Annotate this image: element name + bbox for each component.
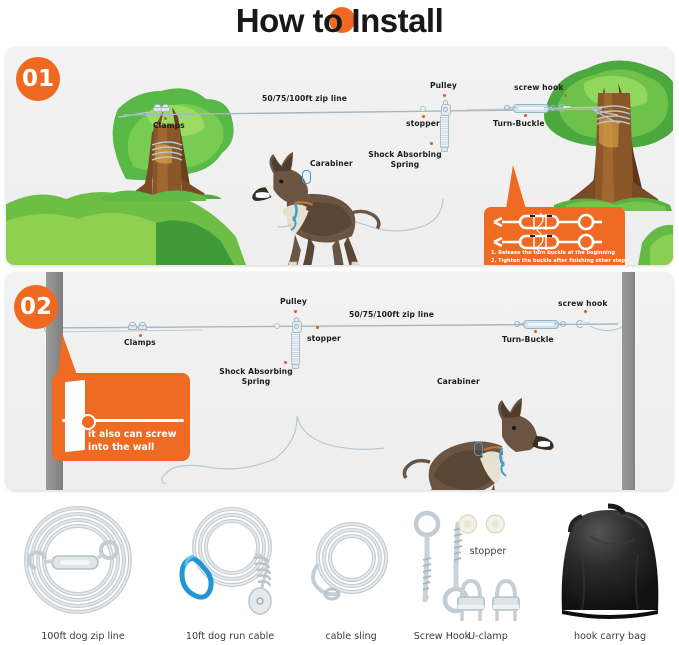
u-clamp-image xyxy=(445,575,531,625)
u-clamp-1 xyxy=(458,581,484,621)
shock-spring-cap-p1 xyxy=(441,147,448,152)
product-zip-line: 100ft dog zip line xyxy=(8,502,158,642)
page-header: How to Install xyxy=(0,0,679,42)
cable-sling-image xyxy=(296,502,406,624)
screwhook-icon-p2 xyxy=(576,319,589,327)
clamp-icon-panel2-b xyxy=(138,322,145,331)
wall-post-right-p2 xyxy=(622,272,635,490)
product-carry-bag: hook carry bag xyxy=(546,502,674,642)
screw-hook-1 xyxy=(416,513,438,602)
clamp-icon-panel1-b xyxy=(161,104,168,113)
callout-tail-p2 xyxy=(58,333,77,375)
callout-wall-text-l2: into the wall xyxy=(88,442,154,453)
title-text-accent: I xyxy=(351,2,360,39)
product-stopper-label: stopper xyxy=(445,546,531,557)
infographic-root: How to Install xyxy=(0,0,679,645)
title-text-rest: nstall xyxy=(360,2,443,39)
label-stopper-p2: stopper xyxy=(307,334,341,343)
shock-spring-p1 xyxy=(440,115,449,148)
step-badge-01: 01 xyxy=(16,57,60,101)
callout-wall-text-l1: it also can screw xyxy=(88,429,176,440)
label-clamps-p2: Clamps xyxy=(124,338,156,347)
turnbuckle-icon-p2 xyxy=(514,320,566,327)
stopper-image xyxy=(453,511,523,537)
product-carry-bag-label: hook carry bag xyxy=(546,631,674,642)
page-title: How to Install xyxy=(0,2,679,40)
label-shock-spring-p2-l1: Shock Absorbing xyxy=(219,367,292,376)
callout-line-2: 2. Tighten the buckle after finishing ot… xyxy=(491,258,619,265)
pulley-icon-p1 xyxy=(440,100,449,115)
label-zipline-p1: 50/75/100ft zip line xyxy=(262,94,347,103)
label-carabiner-p1: Carabiner xyxy=(310,159,353,168)
product-run-cable: 10ft dog run cable xyxy=(162,502,298,642)
clamp-icon-panel1-a xyxy=(153,104,160,113)
label-clamps-p1: Clamps xyxy=(153,121,185,130)
dog-illustration-panel1 xyxy=(252,152,379,265)
label-carabiner-p2: Carabiner xyxy=(437,377,480,386)
shock-spring-p2 xyxy=(291,332,300,365)
product-strip: 100ft dog zip line xyxy=(0,497,679,645)
zip-line-image xyxy=(8,502,158,624)
screwhook-icon-p1 xyxy=(558,103,571,111)
run-cable-image xyxy=(162,502,298,624)
carabiner-icon-p2 xyxy=(474,442,483,456)
clamp-icon-panel2-a xyxy=(128,322,135,331)
leash-curve-panel2 xyxy=(162,416,384,484)
label-shock-spring-p1: Shock Absorbing Spring xyxy=(368,150,442,169)
product-cable-sling: cable sling xyxy=(296,502,406,642)
title-text-main: How to xyxy=(236,2,352,39)
wall-mount-callout-box: it also can screw into the wall xyxy=(52,373,190,461)
label-shock-spring-p1-l2: Spring xyxy=(391,160,420,169)
callout-tail-p1 xyxy=(506,165,526,209)
u-clamp-2 xyxy=(493,581,519,621)
bush-left xyxy=(6,192,246,265)
turnbuckle-callout-box: 1. Release the turn buckle at the beginn… xyxy=(484,207,625,265)
callout-instructions: 1. Release the turn buckle at the beginn… xyxy=(491,250,619,265)
label-stopper-p1: stopper xyxy=(406,119,440,128)
label-turnbuckle-p1: Turn-Buckle xyxy=(493,119,545,128)
product-cable-sling-label: cable sling xyxy=(296,631,406,642)
product-u-clamp-label: U-clamp xyxy=(445,631,531,642)
carry-bag-image xyxy=(546,502,674,624)
turnbuckle-icon-p1 xyxy=(504,104,556,111)
label-shock-spring-p2: Shock Absorbing Spring xyxy=(218,367,294,386)
callout-wall-text: it also can screw into the wall xyxy=(88,428,176,454)
product-run-cable-label: 10ft dog run cable xyxy=(162,631,298,642)
step-panel-01: 01 Clamps 50/75/100ft zip line Pulley st… xyxy=(6,47,673,265)
label-screwhook-p1: screw hook xyxy=(514,83,563,92)
turnbuckle-diagram xyxy=(490,213,619,251)
carabiner-icon-p1 xyxy=(302,170,311,184)
label-shock-spring-p2-l2: Spring xyxy=(242,377,271,386)
label-zipline-p2: 50/75/100ft zip line xyxy=(349,310,434,319)
label-turnbuckle-p2: Turn-Buckle xyxy=(502,335,554,344)
product-zip-line-label: 100ft dog zip line xyxy=(8,631,158,642)
label-screwhook-p2: screw hook xyxy=(558,299,607,308)
step-badge-02: 02 xyxy=(14,285,58,329)
label-pulley-p1: Pulley xyxy=(430,81,457,90)
callout-line-1: 1. Release the turn buckle at the beginn… xyxy=(491,250,619,258)
label-shock-spring-p1-l1: Shock Absorbing xyxy=(368,150,441,159)
product-stopper: stopper xyxy=(445,511,531,557)
product-u-clamp: U-clamp xyxy=(445,575,531,642)
pulley-icon-p2 xyxy=(291,317,300,332)
step-panel-02: 02 Clamps Pulley stopper Shock Absorbing… xyxy=(6,272,673,490)
label-pulley-p2: Pulley xyxy=(280,297,307,306)
